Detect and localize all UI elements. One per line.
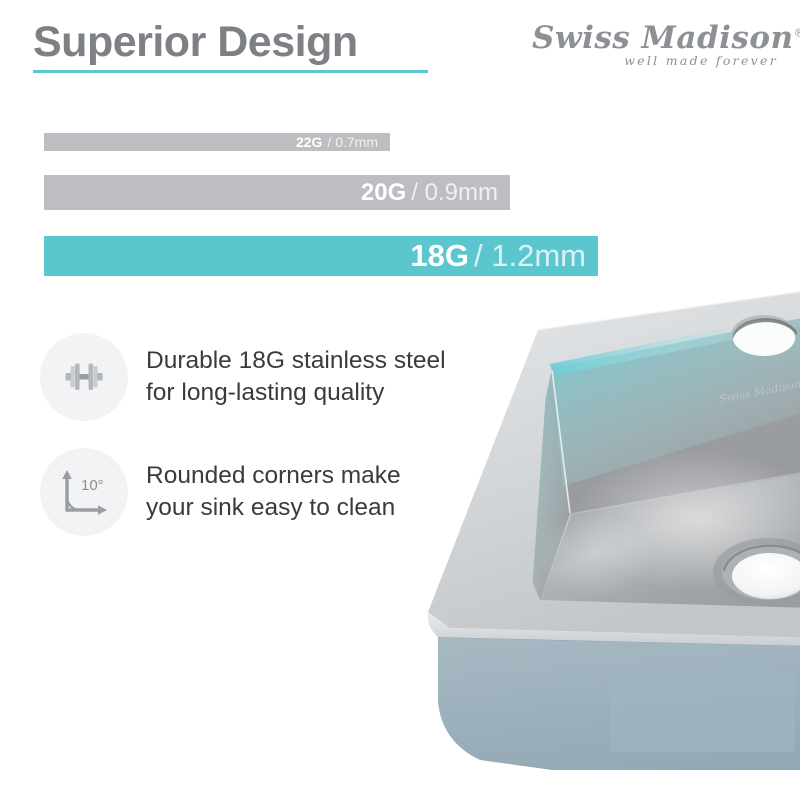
gauge-label-22g: 22G xyxy=(296,134,322,150)
gauge-label-20g: 20G xyxy=(361,179,406,207)
title-underline xyxy=(33,70,428,73)
feature-rounded-corners-text: Rounded corners make your sink easy to c… xyxy=(146,460,401,525)
gauge-bar-22g: 22G / 0.7mm xyxy=(44,133,390,151)
brand-logo-name: Swiss Madison® xyxy=(532,22,782,55)
feature-durability-text: Durable 18G stainless steel for long-las… xyxy=(146,345,446,410)
sink-underside xyxy=(438,637,800,770)
gauge-thickness-18g: / 1.2mm xyxy=(474,238,586,274)
dumbbell-icon xyxy=(40,333,128,421)
gauge-label-18g: 18G xyxy=(410,238,469,274)
gauge-bar-18g: 18G / 1.2mm xyxy=(44,236,598,276)
faucet-hole xyxy=(731,315,797,356)
product-image-sink: Swiss Madison xyxy=(420,290,800,770)
registered-trademark-icon: ® xyxy=(794,27,800,40)
corner-angle-label: 10° xyxy=(81,477,104,494)
gauge-bar-20g: 20G / 0.9mm xyxy=(44,175,510,210)
brand-logo-name-text: Swiss Madison xyxy=(532,20,794,56)
gauge-thickness-22g: / 0.7mm xyxy=(327,134,378,150)
gauge-separator-18g: / xyxy=(474,238,483,273)
gauge-separator-20g: / xyxy=(411,179,418,206)
feature-rounded-corners: 10° Rounded corners make your sink easy … xyxy=(40,448,401,536)
page-title: Superior Design xyxy=(33,21,358,64)
brand-logo: Swiss Madison® well made forever xyxy=(532,22,782,68)
gauge-thickness-value-20g: 0.9mm xyxy=(425,179,498,206)
gauge-thickness-value-22g: 0.7mm xyxy=(335,134,378,150)
feature-durability: Durable 18G stainless steel for long-las… xyxy=(40,333,446,421)
corner-angle-icon: 10° xyxy=(40,448,128,536)
gauge-thickness-value-18g: 1.2mm xyxy=(491,238,586,273)
gauge-thickness-20g: / 0.9mm xyxy=(411,179,498,207)
gauge-separator-22g: / xyxy=(327,134,331,150)
